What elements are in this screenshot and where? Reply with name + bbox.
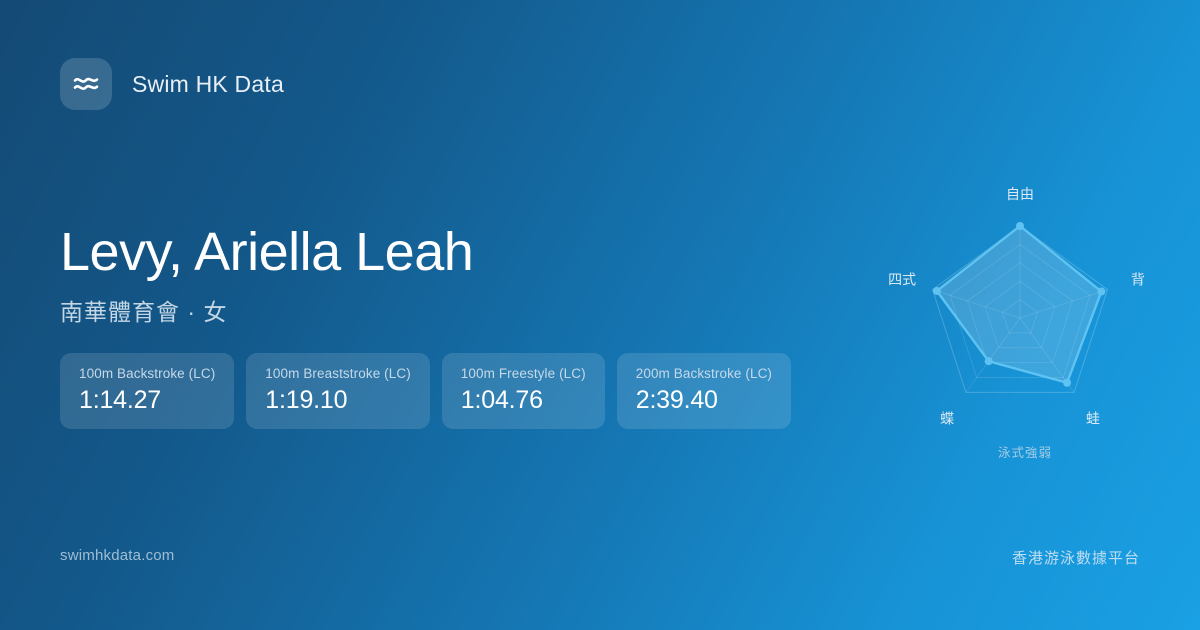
stat-card-value: 1:19.10 — [265, 386, 411, 415]
stat-card-label: 100m Breaststroke (LC) — [265, 366, 411, 381]
radar-axis-label: 蛙 — [1086, 410, 1100, 426]
radar-axis-label: 蝶 — [940, 410, 954, 426]
page-title: Levy, Ariella Leah — [60, 222, 473, 282]
stat-card-value: 1:14.27 — [79, 386, 215, 415]
brand-name: Swim HK Data — [132, 71, 284, 98]
radar-chart-caption: 泳式強弱 — [880, 442, 1170, 461]
radar-chart: 自由背蛙蝶四式 泳式強弱 — [880, 170, 1170, 470]
wave-icon — [60, 58, 112, 110]
stat-card[interactable]: 100m Freestyle (LC) 1:04.76 — [442, 353, 605, 429]
footer-tagline: 香港游泳數據平台 — [1012, 547, 1140, 568]
stat-card-label: 200m Backstroke (LC) — [636, 366, 772, 381]
radar-axis-label: 四式 — [888, 272, 916, 288]
radar-axis-label: 背 — [1131, 272, 1145, 288]
stat-card-list: 100m Backstroke (LC) 1:14.27 100m Breast… — [60, 353, 791, 429]
stat-card-label: 100m Freestyle (LC) — [461, 366, 586, 381]
athlete-meta: 南華體育會 · 女 — [60, 293, 473, 327]
radar-axis-label: 自由 — [1006, 186, 1034, 202]
hero-block: Levy, Ariella Leah 南華體育會 · 女 — [60, 222, 473, 327]
stat-card[interactable]: 200m Backstroke (LC) 2:39.40 — [617, 353, 791, 429]
stat-card-label: 100m Backstroke (LC) — [79, 366, 215, 381]
stat-card-value: 1:04.76 — [461, 386, 586, 415]
stat-card[interactable]: 100m Breaststroke (LC) 1:19.10 — [246, 353, 430, 429]
stat-card[interactable]: 100m Backstroke (LC) 1:14.27 — [60, 353, 234, 429]
brand-header[interactable]: Swim HK Data — [60, 58, 284, 110]
stat-card-value: 2:39.40 — [636, 386, 772, 415]
footer-site-url[interactable]: swimhkdata.com — [60, 547, 175, 564]
